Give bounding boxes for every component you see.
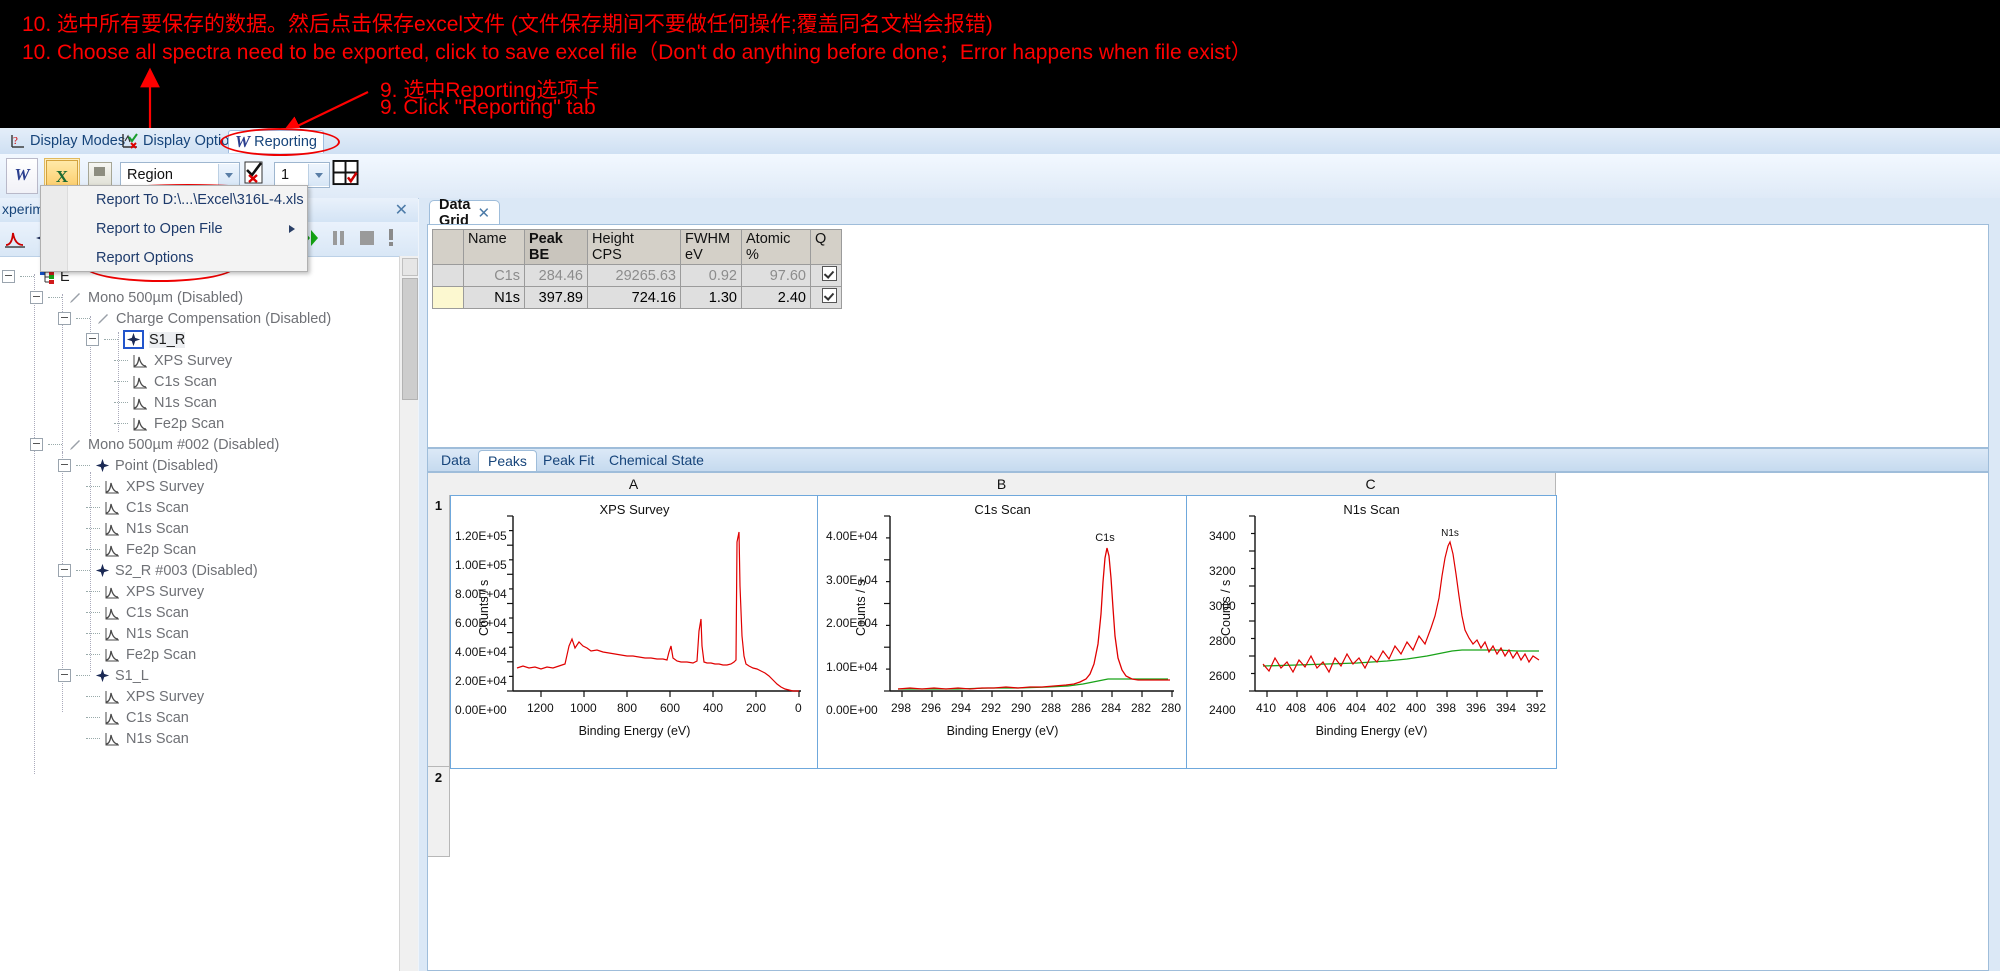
- tab-chemical-state[interactable]: Chemical State: [600, 450, 713, 470]
- tree-node-c1s-scan[interactable]: C1s Scan: [114, 371, 217, 392]
- y-tick: 3.00E+04: [826, 573, 878, 587]
- tree-node-c1s-scan[interactable]: C1s Scan: [86, 497, 189, 518]
- checkbox-icon[interactable]: [822, 266, 837, 281]
- x-tick: 398: [1436, 701, 1456, 715]
- col-peak-be[interactable]: Peak BE: [525, 230, 588, 265]
- y-axis-label: Counts / s: [477, 580, 491, 636]
- cell-fwhm-ev[interactable]: 1.30: [681, 287, 742, 309]
- point-icon: [126, 332, 141, 347]
- row-label: 1: [435, 498, 442, 513]
- experiment-panel: xperiment ✕: [0, 198, 418, 971]
- spectrum-icon: [133, 353, 149, 369]
- chevron-down-icon[interactable]: [308, 164, 329, 186]
- menu-item-label: Report to Open File: [96, 221, 223, 237]
- tab-label: Chemical State: [609, 452, 704, 468]
- spectrum-icon: [105, 479, 121, 495]
- cell-name[interactable]: N1s: [464, 287, 525, 309]
- chart-title: N1s Scan: [1187, 502, 1556, 517]
- row-marker[interactable]: [433, 265, 464, 287]
- col-line1: Height: [592, 231, 676, 247]
- tab-label: Data: [441, 452, 471, 468]
- col-line2: CPS: [592, 247, 676, 263]
- x-tick: 410: [1256, 701, 1276, 715]
- chart-cell-c1[interactable]: N1s Scan: [1186, 495, 1557, 769]
- tree-node-label: Charge Compensation (Disabled): [116, 311, 331, 327]
- column-header-b[interactable]: B: [817, 473, 1187, 496]
- tree-node-label: N1s Scan: [126, 731, 189, 747]
- column-header-c[interactable]: C: [1186, 473, 1556, 496]
- tab-data-grid[interactable]: Data Grid ✕: [429, 200, 500, 225]
- col-line1: Q: [815, 231, 837, 247]
- scrollbar-thumb[interactable]: [402, 278, 418, 400]
- highlight-ellipse-reporting-tab: [220, 128, 340, 156]
- chart-check-icon: [121, 133, 139, 149]
- x-tick: 600: [660, 701, 680, 715]
- tree-node-s2r-003[interactable]: S2_R #003 (Disabled): [58, 560, 258, 581]
- close-icon[interactable]: ✕: [477, 204, 490, 222]
- x-axis-label: Binding Energy (eV): [451, 724, 818, 738]
- y-tick: 3400: [1209, 529, 1236, 543]
- menu-item-report-to-open-file[interactable]: Report to Open File: [68, 215, 307, 243]
- cell-height-cps[interactable]: 29265.63: [588, 265, 681, 287]
- tree-node-point[interactable]: Point (Disabled): [58, 455, 218, 476]
- row-header-2[interactable]: 2: [428, 767, 450, 857]
- selection-box: [123, 330, 144, 349]
- work-area: Data Grid ✕ Name Peak BE: [419, 198, 2000, 971]
- y-tick: 2600: [1209, 669, 1236, 683]
- peaks-table: Name Peak BE Height CPS FWHM: [432, 229, 842, 309]
- tab-label: Peak Fit: [543, 452, 594, 468]
- chart-title: XPS Survey: [451, 502, 818, 517]
- tree-node-fe2p-scan[interactable]: Fe2p Scan: [86, 644, 196, 665]
- x-tick: 406: [1316, 701, 1336, 715]
- tree-node-c1s-scan[interactable]: C1s Scan: [86, 602, 189, 623]
- chart-cell-b1[interactable]: C1s Scan: [817, 495, 1188, 769]
- y-axis-label: Counts / s: [1219, 580, 1233, 636]
- x-tick: 392: [1526, 701, 1546, 715]
- expander-icon[interactable]: [58, 669, 71, 682]
- col-line1: Atomic: [746, 231, 806, 247]
- cell-atomic-pct[interactable]: 2.40: [742, 287, 811, 309]
- svg-text:N1s: N1s: [1441, 528, 1459, 539]
- spectrum-icon: [105, 542, 121, 558]
- x-tick: 404: [1346, 701, 1366, 715]
- tree-node-fe2p-scan[interactable]: Fe2p Scan: [114, 413, 224, 434]
- x-tick: 1000: [570, 701, 597, 715]
- x-tick: 282: [1131, 701, 1151, 715]
- col-q[interactable]: Q: [811, 230, 842, 265]
- cell-q[interactable]: [811, 287, 842, 309]
- tree-node-label: N1s Scan: [126, 626, 189, 642]
- y-tick: 2400: [1209, 703, 1236, 717]
- x-axis-label: Binding Energy (eV): [818, 724, 1187, 738]
- expander-icon[interactable]: [86, 333, 99, 346]
- menu-item-label: Report To D:\...\Excel\316L-4.xls: [96, 192, 304, 208]
- point-icon: [95, 563, 110, 578]
- pen-icon: [67, 290, 83, 306]
- x-tick: 298: [891, 701, 911, 715]
- check-x-icon: [243, 161, 265, 185]
- tree-node-label: C1s Scan: [126, 500, 189, 516]
- tree-node-n1s-scan[interactable]: N1s Scan: [86, 623, 189, 644]
- column-label: C: [1365, 476, 1375, 492]
- col-line2: eV: [685, 247, 737, 263]
- y-tick: 2800: [1209, 634, 1236, 648]
- point-icon: [95, 458, 110, 473]
- tree-node-fe2p-scan[interactable]: Fe2p Scan: [86, 539, 196, 560]
- table-row[interactable]: C1s 284.46 29265.63 0.92 97.60: [433, 265, 842, 287]
- checkbox-icon[interactable]: [822, 288, 837, 303]
- tree-node-n1s-scan[interactable]: N1s Scan: [86, 728, 189, 749]
- spectrum-icon: [133, 395, 149, 411]
- spectrum-icon: [105, 647, 121, 663]
- tree-node-label: Fe2p Scan: [126, 647, 196, 663]
- col-fwhm-ev[interactable]: FWHM eV: [681, 230, 742, 265]
- cell-name[interactable]: C1s: [464, 265, 525, 287]
- tree-node-n1s-scan[interactable]: N1s Scan: [114, 392, 217, 413]
- menu-item-report-options[interactable]: Report Options: [68, 244, 307, 272]
- col-line1: Name: [468, 231, 520, 247]
- tree-node-label: XPS Survey: [154, 353, 232, 369]
- warn-icon[interactable]: [385, 228, 397, 248]
- tree-node-label: C1s Scan: [126, 605, 189, 621]
- grid-check-icon: [332, 160, 360, 186]
- spectrum-icon: [105, 689, 121, 705]
- y-tick: 1.00E+04: [826, 660, 878, 674]
- tree-node-s1r[interactable]: S1_R: [86, 329, 185, 350]
- expander-icon[interactable]: [30, 291, 43, 304]
- cell-q[interactable]: [811, 265, 842, 287]
- tree-node-label: S1_L: [115, 668, 149, 684]
- pen-icon: [67, 437, 83, 453]
- chart-cell-a1[interactable]: XPS Survey: [450, 495, 819, 769]
- expander-icon[interactable]: [30, 438, 43, 451]
- y-tick: 1.00E+05: [455, 558, 507, 572]
- tree-node-mono500um-002[interactable]: Mono 500µm #002 (Disabled): [30, 434, 279, 455]
- col-line2: [815, 247, 837, 263]
- tree-node-mono500um[interactable]: Mono 500µm (Disabled): [30, 287, 243, 308]
- tree-node-s1l[interactable]: S1_L: [58, 665, 149, 686]
- tree-node-n1s-scan[interactable]: N1s Scan: [86, 518, 189, 539]
- column-header-a[interactable]: A: [450, 473, 818, 496]
- spectrum-icon: [105, 710, 121, 726]
- x-tick: 800: [617, 701, 637, 715]
- reporting-dropdown-menu[interactable]: Report To D:\...\Excel\316L-4.xls Report…: [40, 185, 308, 272]
- spectrum-icon: [105, 731, 121, 747]
- cell-fwhm-ev[interactable]: 0.92: [681, 265, 742, 287]
- count-combo-value: 1: [275, 167, 308, 183]
- svg-text:C1s: C1s: [1095, 532, 1115, 544]
- tab-display-modes[interactable]: ? Display Modes: [4, 130, 131, 152]
- col-line2: %: [746, 247, 806, 263]
- chevron-down-icon[interactable]: [218, 164, 239, 186]
- check-x-button[interactable]: [243, 161, 265, 185]
- cell-peak-be[interactable]: 397.89: [525, 287, 588, 309]
- close-icon[interactable]: ✕: [395, 200, 408, 220]
- y-tick: 0.00E+00: [826, 703, 878, 717]
- tree-node-label: Point (Disabled): [115, 458, 218, 474]
- tab-peak-fit[interactable]: Peak Fit: [534, 450, 603, 470]
- tree-node-c1s-scan[interactable]: C1s Scan: [86, 707, 189, 728]
- tree-node-label: C1s Scan: [154, 374, 217, 390]
- tree-node-label: Mono 500µm #002 (Disabled): [88, 437, 279, 453]
- tree-node-label: XPS Survey: [126, 479, 204, 495]
- tree-node-charge-compensation[interactable]: Charge Compensation (Disabled): [58, 308, 331, 329]
- menu-item-report-to-file[interactable]: Report To D:\...\Excel\316L-4.xls: [68, 186, 307, 214]
- x-tick: 400: [1406, 701, 1426, 715]
- annotation-9-en: 9. Click "Reporting" tab: [380, 96, 596, 120]
- x-tick: 290: [1011, 701, 1031, 715]
- table-row[interactable]: N1s 397.89 724.16 1.30 2.40: [433, 287, 842, 309]
- x-tick: 1200: [527, 701, 554, 715]
- corner-cell: [428, 473, 451, 496]
- tree-node-xps-survey[interactable]: XPS Survey: [86, 581, 204, 602]
- y-tick: 0.00E+00: [455, 703, 507, 717]
- spectrum-icon: [105, 584, 121, 600]
- row-marker[interactable]: [433, 287, 464, 309]
- tree-node-label: C1s Scan: [126, 710, 189, 726]
- col-line1: FWHM: [685, 231, 737, 247]
- x-tick: 294: [951, 701, 971, 715]
- spectrum-icon: [105, 605, 121, 621]
- annotation-10-cn: 10. 选中所有要保存的数据。然后点击保存excel文件 (文件保存期间不要做任…: [22, 8, 993, 38]
- experiment-tree: E Mono 500µm (Disabled) Charge Compensat…: [0, 256, 400, 971]
- x-tick: 286: [1071, 701, 1091, 715]
- x-tick: 0: [795, 701, 802, 715]
- table-header-row: Name Peak BE Height CPS FWHM: [433, 230, 842, 265]
- svg-text:?: ?: [13, 135, 18, 147]
- col-height-cps[interactable]: Height CPS: [588, 230, 681, 265]
- tree-node-xps-survey[interactable]: XPS Survey: [86, 686, 204, 707]
- x-tick: 200: [746, 701, 766, 715]
- tree-node-label: Fe2p Scan: [126, 542, 196, 558]
- column-label: B: [997, 476, 1006, 492]
- tree-node-label: XPS Survey: [126, 584, 204, 600]
- annotation-10-en: 10. Choose all spectra need to be export…: [22, 36, 1252, 66]
- tab-peaks[interactable]: Peaks: [478, 450, 537, 471]
- scroll-up-button[interactable]: [402, 258, 418, 276]
- question-chart-icon: ?: [10, 133, 26, 149]
- col-line2: BE: [529, 247, 583, 263]
- spectrum-icon: [133, 374, 149, 390]
- y-axis-label: Counts / s: [854, 580, 868, 636]
- col-name[interactable]: Name: [464, 230, 525, 265]
- x-tick: 396: [1466, 701, 1486, 715]
- x-axis-label: Binding Energy (eV): [1187, 724, 1556, 738]
- tree-node-label: S1_R: [149, 332, 185, 348]
- menu-item-label: Report Options: [96, 250, 194, 266]
- grid-layout-button[interactable]: [332, 160, 360, 186]
- expander-icon[interactable]: [58, 564, 71, 577]
- tab-label: Display Modes: [30, 133, 125, 149]
- expander-icon[interactable]: [58, 312, 71, 325]
- spectrum-icon: [105, 626, 121, 642]
- tree-node-label: S2_R #003 (Disabled): [115, 563, 258, 579]
- col-atomic-pct[interactable]: Atomic %: [742, 230, 811, 265]
- spectrum-icon: [105, 500, 121, 516]
- y-tick: 4.00E+04: [455, 645, 507, 659]
- y-tick: 3200: [1209, 564, 1236, 578]
- x-tick: 296: [921, 701, 941, 715]
- expander-icon[interactable]: [58, 459, 71, 472]
- row-label: 2: [435, 770, 442, 785]
- tree-node-label: XPS Survey: [126, 689, 204, 705]
- tree-node-label: N1s Scan: [154, 395, 217, 411]
- tree-guide-line: [34, 274, 35, 774]
- region-combo-value: Region: [121, 167, 218, 183]
- x-tick: 288: [1041, 701, 1061, 715]
- y-tick: 4.00E+04: [826, 529, 878, 543]
- column-label: A: [629, 476, 638, 492]
- tree-node-label: Mono 500µm (Disabled): [88, 290, 243, 306]
- col-rowmark: [433, 230, 464, 265]
- x-tick: 402: [1376, 701, 1396, 715]
- x-tick: 292: [981, 701, 1001, 715]
- tree-node-xps-survey[interactable]: XPS Survey: [86, 476, 204, 497]
- application-window: ? Display Modes Display Options W Report…: [0, 128, 2000, 971]
- x-tick: 408: [1286, 701, 1306, 715]
- peak-icon[interactable]: [4, 227, 26, 249]
- cell-peak-be[interactable]: 284.46: [525, 265, 588, 287]
- tab-data[interactable]: Data: [432, 450, 480, 470]
- tree-node-label: N1s Scan: [126, 521, 189, 537]
- col-line1: Peak: [529, 231, 583, 247]
- tree-scrollbar[interactable]: [399, 256, 418, 971]
- row-header-1[interactable]: 1: [428, 495, 450, 767]
- word-report-icon: [6, 158, 38, 194]
- spectrum-icon: [105, 521, 121, 537]
- pen-icon: [95, 311, 111, 327]
- stop-icon[interactable]: [358, 229, 376, 247]
- y-tick: 2.00E+04: [826, 616, 878, 630]
- tree-node-label: Fe2p Scan: [154, 416, 224, 432]
- point-icon: [95, 668, 110, 683]
- spectrum-icon: [133, 416, 149, 432]
- data-grid-panel: Name Peak BE Height CPS FWHM: [427, 224, 1989, 448]
- chart-title: C1s Scan: [818, 502, 1187, 517]
- x-tick: 284: [1101, 701, 1121, 715]
- y-tick: 1.20E+05: [455, 529, 507, 543]
- y-tick: 2.00E+04: [455, 674, 507, 688]
- bottom-tab-bar: Data Peaks Peak Fit Chemical State: [427, 448, 1989, 472]
- cell-atomic-pct[interactable]: 97.60: [742, 265, 811, 287]
- tree-node-xps-survey[interactable]: XPS Survey: [114, 350, 232, 371]
- x-tick: 394: [1496, 701, 1516, 715]
- tab-label: Peaks: [488, 453, 527, 469]
- cell-height-cps[interactable]: 724.16: [588, 287, 681, 309]
- menu-gutter: [41, 186, 68, 271]
- x-tick: 400: [703, 701, 723, 715]
- report-to-word-button[interactable]: [6, 158, 38, 194]
- chevron-right-icon: [289, 225, 295, 233]
- x-tick: 280: [1161, 701, 1181, 715]
- chart-spreadsheet: A B C 1 2 XPS Survey: [427, 472, 1989, 971]
- pause-icon[interactable]: [330, 229, 348, 247]
- expander-icon[interactable]: [2, 270, 15, 283]
